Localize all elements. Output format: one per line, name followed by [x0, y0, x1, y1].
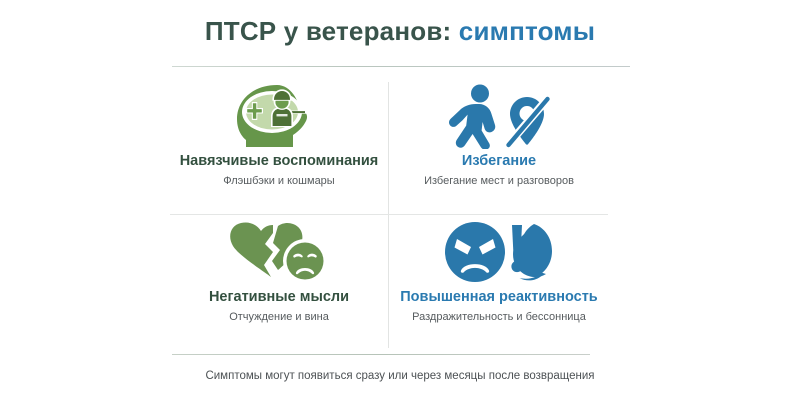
footer-note: Симптомы могут появиться сразу или через… — [0, 370, 800, 382]
head-with-soldier-icon — [227, 80, 331, 152]
quadrant-subtitle: Раздражительность и бессонница — [412, 311, 586, 323]
quadrant-heading: Негативные мысли — [209, 290, 349, 306]
symptom-grid: Навязчивые воспоминания Флэшбэки и кошма… — [170, 80, 610, 352]
page-title: ПТСР у ветеранов: симптомы — [0, 16, 800, 47]
quadrant-subtitle: Отчуждение и вина — [229, 311, 329, 323]
quadrant-subtitle: Флэшбэки и кошмары — [223, 175, 334, 187]
grid-vertical-divider — [388, 82, 389, 348]
quadrant-negative-thoughts[interactable]: Негативные мысли Отчуждение и вина — [170, 216, 388, 350]
title-main: ПТСР у ветеранов: — [205, 16, 452, 46]
quadrant-heading: Избегание — [462, 154, 536, 170]
title-text: ПТСР у ветеранов: симптомы — [0, 16, 800, 47]
quadrant-hyperarousal[interactable]: Повышенная реактивность Раздражительност… — [390, 216, 608, 350]
broken-heart-sad-face-icon — [223, 216, 335, 288]
walking-person-no-location-icon — [445, 80, 553, 152]
quadrant-subtitle: Избегание мест и разговоров — [424, 175, 574, 187]
angry-face-exclamation-moon-icon — [442, 216, 556, 288]
quadrant-heading: Повышенная реактивность — [400, 290, 597, 306]
footer-divider — [172, 354, 590, 355]
title-accent: симптомы — [459, 16, 595, 46]
grid-horizontal-divider — [170, 214, 608, 215]
quadrant-heading: Навязчивые воспоминания — [180, 154, 379, 170]
quadrant-avoidance[interactable]: Избегание Избегание мест и разговоров — [390, 80, 608, 214]
title-divider — [172, 66, 630, 67]
quadrant-intrusive-memories[interactable]: Навязчивые воспоминания Флэшбэки и кошма… — [170, 80, 388, 214]
infographic-canvas: ПТСР у ветеранов: симптомы — [0, 0, 800, 400]
